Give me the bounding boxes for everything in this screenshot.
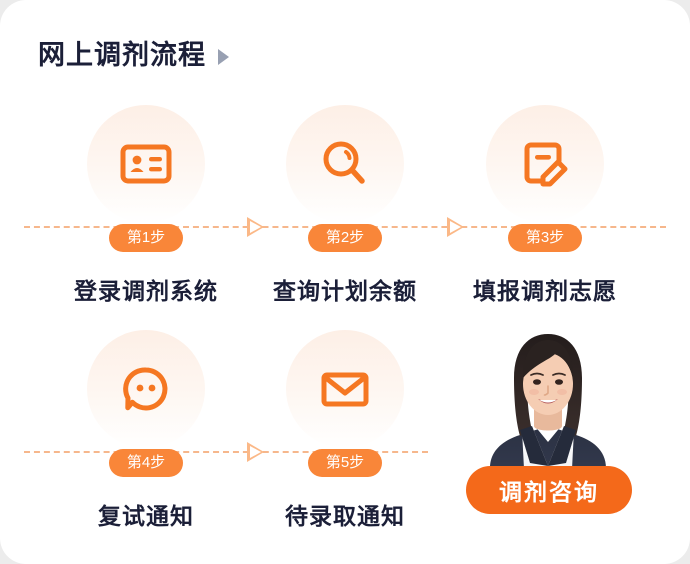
step-icon-backdrop bbox=[286, 105, 404, 223]
step-label: 复试通知 bbox=[46, 497, 246, 531]
step-item[interactable]: 第1步 登录调剂系统 bbox=[46, 105, 246, 306]
step-badge: 第2步 bbox=[308, 224, 382, 252]
step-item[interactable]: 第4步 复试通知 bbox=[46, 330, 246, 531]
step-icon-backdrop bbox=[286, 330, 404, 448]
consult-button[interactable]: 调剂咨询 bbox=[466, 466, 632, 514]
envelope-icon bbox=[317, 361, 373, 417]
step-icon-backdrop bbox=[87, 330, 205, 448]
step-label: 查询计划余额 bbox=[245, 272, 445, 306]
step-label: 填报调剂志愿 bbox=[445, 272, 645, 306]
step-icon-backdrop bbox=[486, 105, 604, 223]
triangle-right-icon bbox=[218, 49, 229, 65]
step-label: 登录调剂系统 bbox=[46, 272, 246, 306]
step-item[interactable]: 第3步 填报调剂志愿 bbox=[445, 105, 645, 306]
consultant-block[interactable]: 调剂咨询 bbox=[468, 326, 628, 508]
page-title: 网上调剂流程 bbox=[38, 42, 229, 69]
step-item[interactable]: 第2步 查询计划余额 bbox=[245, 105, 445, 306]
step-item[interactable]: 第5步 待录取通知 bbox=[245, 330, 445, 531]
id-card-icon bbox=[118, 136, 174, 192]
step-badge: 第1步 bbox=[109, 224, 183, 252]
step-badge: 第5步 bbox=[308, 449, 382, 477]
steps-row-1: 第1步 登录调剂系统 第2步 查询计划余额 bbox=[0, 105, 690, 320]
step-icon-backdrop bbox=[87, 105, 205, 223]
step-badge: 第3步 bbox=[508, 224, 582, 252]
document-edit-icon bbox=[517, 136, 573, 192]
flow-card: 网上调剂流程 第1步 登录调剂系统 bbox=[0, 0, 690, 564]
step-label: 待录取通知 bbox=[245, 497, 445, 531]
chat-bubble-icon bbox=[118, 361, 174, 417]
page-title-text: 网上调剂流程 bbox=[38, 42, 206, 69]
step-badge: 第4步 bbox=[109, 449, 183, 477]
magnifier-icon bbox=[317, 136, 373, 192]
